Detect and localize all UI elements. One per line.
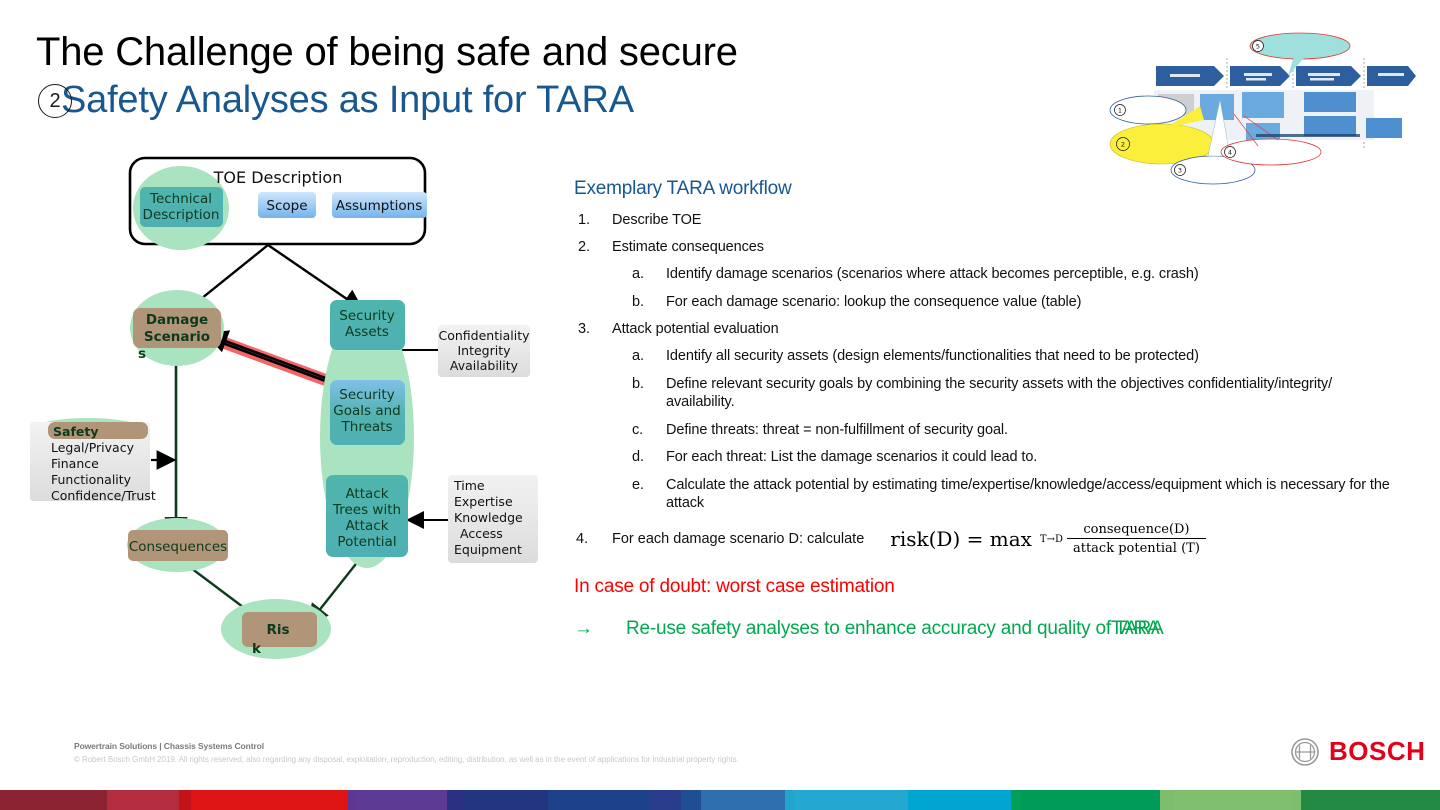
- colorbar-segment-3: [191, 790, 348, 810]
- substep-text: For each threat: List the damage scenari…: [666, 449, 1037, 465]
- substep-number: d.: [632, 448, 660, 467]
- goals-label-3: Threats: [341, 419, 393, 435]
- colorbar-segment-19: [1293, 790, 1301, 810]
- damage-label-2: Scenario: [144, 329, 210, 345]
- step-number: 3.: [578, 320, 602, 338]
- security-process-thumbnail[interactable]: 1 2 3 4 5: [1108, 28, 1416, 188]
- colorbar-segment-9: [649, 790, 681, 810]
- consequences-label: Consequences: [129, 539, 227, 555]
- formula-lhs: risk(D) = max: [890, 527, 1032, 551]
- substep-number: b.: [632, 293, 660, 312]
- colorbar-segment-0: [0, 790, 107, 810]
- formula-numerator: consequence(D): [1077, 522, 1195, 538]
- colorbar-segment-12: [785, 790, 795, 810]
- subtitle-row: 2 Safety Analyses as Input for TARA: [36, 78, 936, 132]
- substep-text: Define relevant security goals by combin…: [666, 376, 1332, 411]
- goals-label-1: Security: [339, 387, 394, 403]
- formula-fraction: consequence(D) attack potential (T): [1067, 522, 1206, 556]
- attack-label-1: Attack: [345, 486, 388, 502]
- damage-label-1: Damage: [146, 312, 208, 328]
- step-number: 2.: [578, 238, 602, 256]
- slide-title-block: The Challenge of being safe and secure 2…: [36, 28, 936, 132]
- assets-label-2: Assets: [345, 324, 389, 340]
- ap-line-3: Access: [460, 526, 503, 541]
- svg-text:5: 5: [1256, 43, 1260, 51]
- goals-label-2: Goals and: [333, 403, 400, 419]
- colorbar-segment-7: [463, 790, 548, 810]
- risk-label: Ris: [266, 622, 289, 638]
- footer-copyright: © Robert Bosch GmbH 2019. All rights res…: [74, 755, 739, 764]
- safety-line-3: Confidence/Trust: [51, 488, 156, 503]
- substep-number: a.: [632, 347, 660, 366]
- safety-header: Safety: [53, 424, 98, 439]
- colorbar-segment-10: [681, 790, 701, 810]
- toe-title-text: TOE Description: [213, 168, 343, 187]
- bosch-anchor-icon: [1290, 737, 1320, 767]
- toe-item-2: Assumptions: [336, 198, 422, 214]
- colorbar-segment-5: [356, 790, 447, 810]
- safety-line-2: Functionality: [51, 472, 132, 487]
- step-number-badge: 2: [38, 84, 72, 118]
- step-text: Describe TOE: [612, 212, 701, 228]
- assets-label-1: Security: [339, 308, 394, 324]
- substep-text: Calculate the attack potential by estima…: [666, 477, 1390, 512]
- cia-line-1: Integrity: [457, 343, 511, 358]
- colorbar-segment-4: [348, 790, 356, 810]
- bosch-wordmark: BOSCH: [1329, 736, 1425, 767]
- colorbar-segment-18: [1174, 790, 1293, 810]
- substep-text: Identify all security assets (design ele…: [666, 348, 1199, 364]
- step4-lead: 4. For each damage scenario D: calculate: [574, 531, 864, 547]
- tara-process-diagram: TOE Description Technical Description Sc…: [20, 150, 565, 690]
- footer-division: Powertrain Solutions | Chassis Systems C…: [74, 741, 739, 751]
- safety-line-0: Legal/Privacy: [51, 440, 135, 455]
- ap-line-1: Expertise: [454, 494, 513, 509]
- colorbar-segment-13: [794, 790, 907, 810]
- toe-item-0-line2: Description: [143, 207, 220, 223]
- svg-text:1: 1: [1118, 107, 1122, 115]
- colorbar-segment-11: [701, 790, 784, 810]
- toe-item-1: Scope: [266, 198, 307, 214]
- substep-number: c.: [632, 421, 660, 440]
- colorbar-segment-8: [548, 790, 649, 810]
- ap-line-2: Knowledge: [454, 510, 523, 525]
- workflow-substep: e. Calculate the attack potential by est…: [612, 476, 1404, 513]
- attack-label-2: Trees with: [332, 502, 401, 518]
- step-text: Attack potential evaluation: [612, 321, 779, 337]
- workflow-substep: c. Define threats: threat = non-fulfillm…: [612, 421, 1404, 440]
- page-title: The Challenge of being safe and secure: [36, 28, 936, 76]
- workflow-substep: a. Identify all security assets (design …: [612, 347, 1404, 366]
- page-subtitle: Safety Analyses as Input for TARA: [61, 74, 634, 126]
- workflow-step: 3. Attack potential evaluation a. Identi…: [574, 320, 1404, 513]
- ap-line-4: Equipment: [454, 542, 522, 557]
- workflow-substeps: a. Identify damage scenarios (scenarios …: [612, 265, 1404, 311]
- bosch-logo: BOSCH: [1290, 736, 1425, 767]
- risk-formula: risk(D) = max T→D consequence(D) attack …: [890, 522, 1206, 556]
- colorbar-segment-16: [1021, 790, 1160, 810]
- worst-case-note: In case of doubt: worst case estimation: [574, 576, 1404, 598]
- toe-item-0-line1: Technical: [149, 191, 212, 207]
- substep-number: b.: [632, 375, 660, 394]
- colorbar-segment-6: [447, 790, 463, 810]
- conclusion-tara-overlap: TARA TARA: [1111, 618, 1159, 640]
- arrow-right-icon: →: [574, 618, 626, 640]
- footer: Powertrain Solutions | Chassis Systems C…: [74, 741, 739, 764]
- workflow-substeps: a. Identify all security assets (design …: [612, 347, 1404, 513]
- workflow-substep: b. Define relevant security goals by com…: [612, 375, 1404, 412]
- colorbar-segment-20: [1301, 790, 1440, 810]
- workflow-steps: 1. Describe TOE 2. Estimate consequences…: [574, 211, 1404, 513]
- brand-colorbar: [0, 790, 1440, 810]
- damage-label-overflow: s: [138, 346, 146, 362]
- step-text: For each damage scenario D: calculate: [612, 531, 864, 547]
- workflow-step: 2. Estimate consequences a. Identify dam…: [574, 238, 1404, 311]
- colorbar-segment-2: [179, 790, 191, 810]
- step-number: 4.: [576, 531, 588, 547]
- step-text: Estimate consequences: [612, 239, 764, 255]
- substep-text: Identify damage scenarios (scenarios whe…: [666, 266, 1199, 282]
- workflow-step: 1. Describe TOE: [574, 211, 1404, 229]
- cia-line-0: Confidentiality: [439, 328, 531, 343]
- workflow-panel: Exemplary TARA workflow 1. Describe TOE …: [574, 178, 1404, 640]
- colorbar-segment-14: [908, 790, 1011, 810]
- workflow-substep: a. Identify damage scenarios (scenarios …: [612, 265, 1404, 284]
- ap-line-0: Time: [453, 478, 485, 493]
- substep-number: e.: [632, 476, 660, 495]
- attack-label-3: Attack: [345, 518, 388, 534]
- step-number: 1.: [578, 211, 602, 229]
- substep-text: For each damage scenario: lookup the con…: [666, 294, 1081, 310]
- conclusion-line: → Re-use safety analyses to enhance accu…: [574, 618, 1404, 640]
- svg-text:2: 2: [1121, 141, 1125, 149]
- formula-max-subscript-block: T→D: [1040, 533, 1063, 545]
- colorbar-segment-17: [1160, 790, 1174, 810]
- workflow-substep: d. For each threat: List the damage scen…: [612, 448, 1404, 467]
- conclusion-text: Re-use safety analyses to enhance accura…: [626, 618, 1111, 640]
- workflow-step-4: 4. For each damage scenario D: calculate…: [574, 522, 1404, 556]
- formula-max-subscript: T→D: [1040, 534, 1063, 545]
- risk-label-overflow: k: [252, 641, 262, 657]
- safety-line-1: Finance: [51, 456, 99, 471]
- attack-label-4: Potential: [337, 534, 396, 550]
- cia-line-2: Availability: [450, 358, 519, 373]
- colorbar-segment-1: [107, 790, 179, 810]
- conclusion-tara-b: TARA: [1115, 618, 1163, 640]
- substep-text: Define threats: threat = non-fulfillment…: [666, 422, 1008, 438]
- substep-number: a.: [632, 265, 660, 284]
- workflow-substep: b. For each damage scenario: lookup the …: [612, 293, 1404, 312]
- formula-denominator: attack potential (T): [1067, 539, 1206, 556]
- svg-text:3: 3: [1178, 167, 1182, 175]
- svg-text:4: 4: [1228, 149, 1232, 157]
- colorbar-segment-15: [1011, 790, 1021, 810]
